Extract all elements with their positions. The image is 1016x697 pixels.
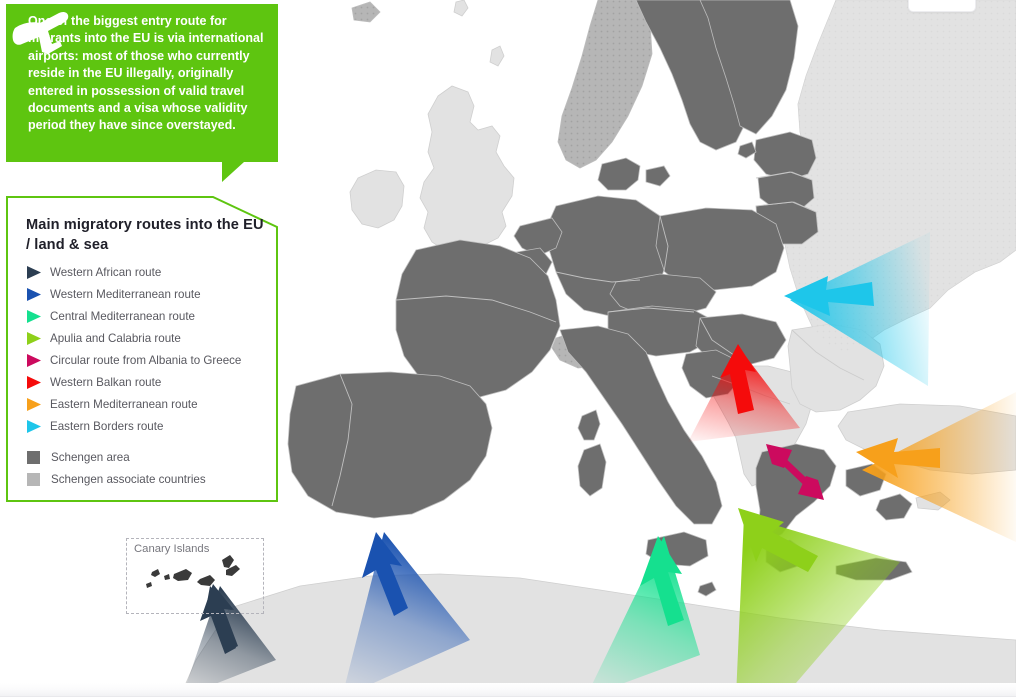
legend-panel: Main migratory routes into the EU / land… [6,196,278,502]
western-mediterranean-route-icon [26,288,42,301]
legend-item-label: Eastern Borders route [50,420,163,433]
canary-islands-label: Canary Islands [134,543,209,555]
schengen-associate-swatch [27,473,40,486]
legend-item-schengen-associate[interactable]: Schengen associate countries [26,468,264,490]
legend-item-label: Schengen area [51,451,130,464]
legend-item-schengen-area[interactable]: Schengen area [26,446,264,468]
top-right-control-box[interactable] [908,0,976,12]
footer-band [0,683,1016,697]
albania-greece-route-icon [26,354,42,367]
legend-item-western-balkan[interactable]: Western Balkan route [26,371,264,393]
legend-item-label: Western Balkan route [50,376,161,389]
legend-item-apulia-calabria[interactable]: Apulia and Calabria route [26,327,264,349]
legend-item-label: Western Mediterranean route [50,288,201,301]
eastern-borders-route-icon [26,420,42,433]
western-african-route-icon [26,266,42,279]
apulia-calabria-route-icon [26,332,42,345]
legend-title: Main migratory routes into the EU / land… [26,216,264,255]
legend-item-central-mediterranean[interactable]: Central Mediterranean route [26,305,264,327]
callout-text: One of the biggest entry route for migra… [6,4,278,182]
infographic-map: One of the biggest entry route for migra… [0,0,1016,697]
legend-item-albania-greece[interactable]: Circular route from Albania to Greece [26,349,264,371]
legend-item-western-african[interactable]: Western African route [26,261,264,283]
western-balkan-route-icon [26,376,42,389]
legend-item-western-mediterranean[interactable]: Western Mediterranean route [26,283,264,305]
legend-item-eastern-borders[interactable]: Eastern Borders route [26,415,264,437]
central-mediterranean-route-icon [26,310,42,323]
legend-item-label: Western African route [50,266,161,279]
legend-item-label: Apulia and Calabria route [50,332,181,345]
legend-item-eastern-mediterranean[interactable]: Eastern Mediterranean route [26,393,264,415]
legend-item-label: Circular route from Albania to Greece [50,354,241,367]
legend-item-label: Central Mediterranean route [50,310,195,323]
schengen-area-swatch [27,451,40,464]
legend-item-label: Eastern Mediterranean route [50,398,198,411]
legend-divider-gap [26,437,264,446]
eastern-mediterranean-route-icon [26,398,42,411]
legend-item-label: Schengen associate countries [51,473,206,486]
